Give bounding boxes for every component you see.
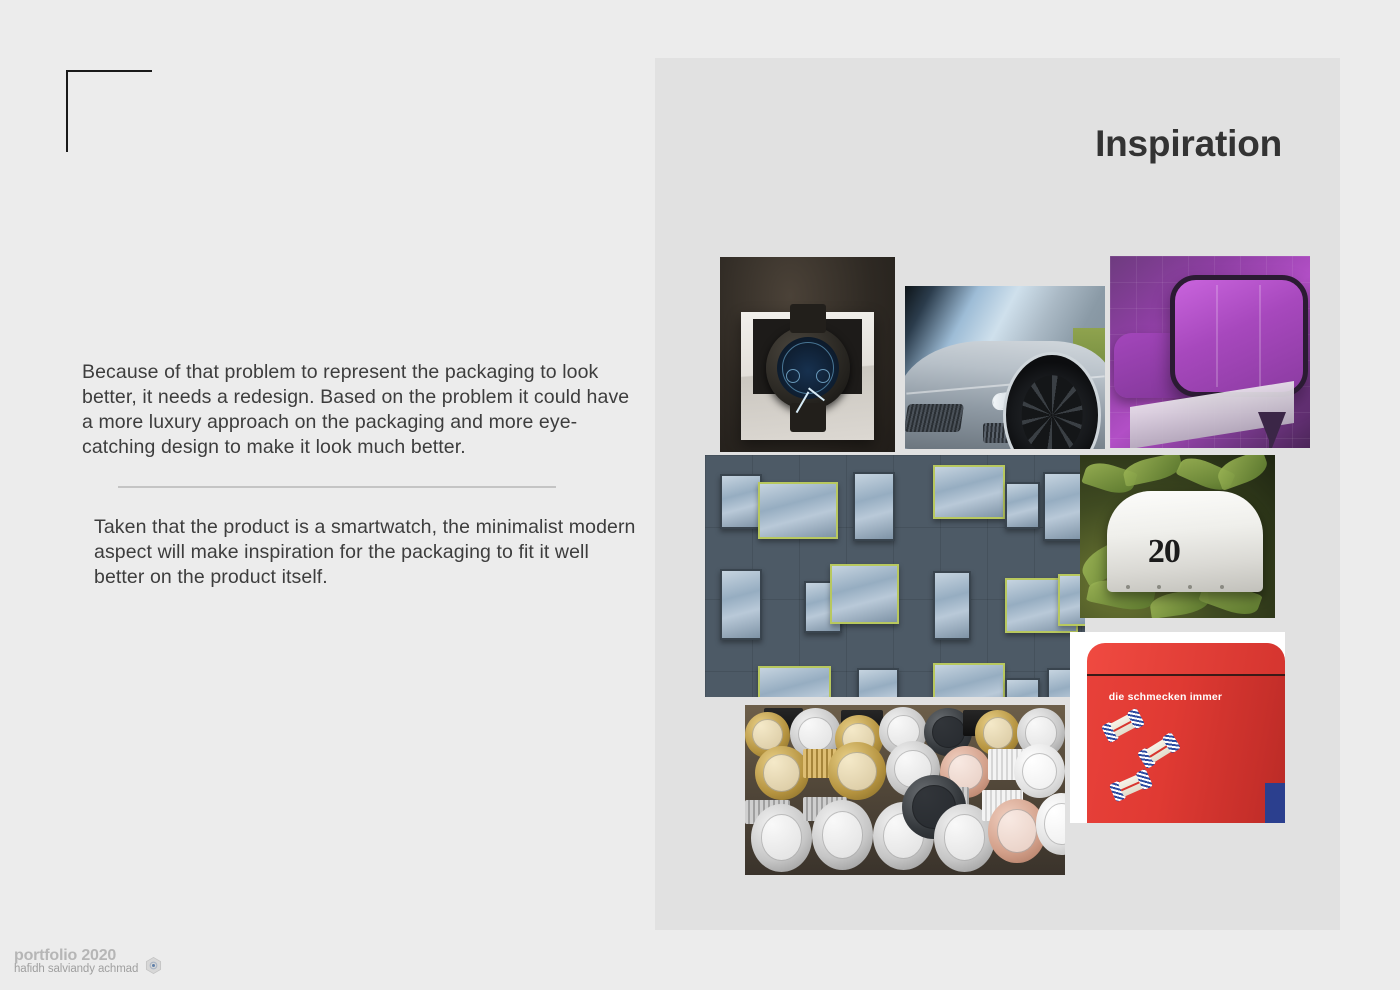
moodboard-image-silver-sports-car [905,286,1105,449]
moodboard-image-red-tin-box: die schmecken immer [1070,632,1285,823]
moodboard-image-purple-lamp-installation [1110,256,1310,448]
inspiration-panel: Inspiration [655,58,1340,930]
mailbox-number: 20 [1148,533,1180,571]
moodboard-image-watch-collection [745,705,1065,875]
footer-branding: portfolio 2020 hafidh salviandy achmad [14,948,163,976]
left-text-column: Because of that problem to represent the… [82,360,642,590]
body-paragraph-2: Taken that the product is a smartwatch, … [94,515,642,590]
body-paragraph-1: Because of that problem to represent the… [82,360,634,460]
footer-title: portfolio 2020 [14,948,138,964]
hexagon-logo-icon [144,956,163,975]
corner-bracket-decoration [66,70,152,152]
page-title: Inspiration [1095,123,1282,165]
moodboard-image-watch-in-box [720,257,895,452]
tin-label-text: die schmecken immer [1109,691,1223,703]
moodboard-image-white-mailbox: 20 [1080,455,1275,618]
paragraph-divider [118,486,556,488]
moodboard-image-building-facade [705,455,1085,697]
footer-subtitle: hafidh salviandy achmad [14,964,138,976]
slide-canvas: Because of that problem to represent the… [0,0,1400,990]
